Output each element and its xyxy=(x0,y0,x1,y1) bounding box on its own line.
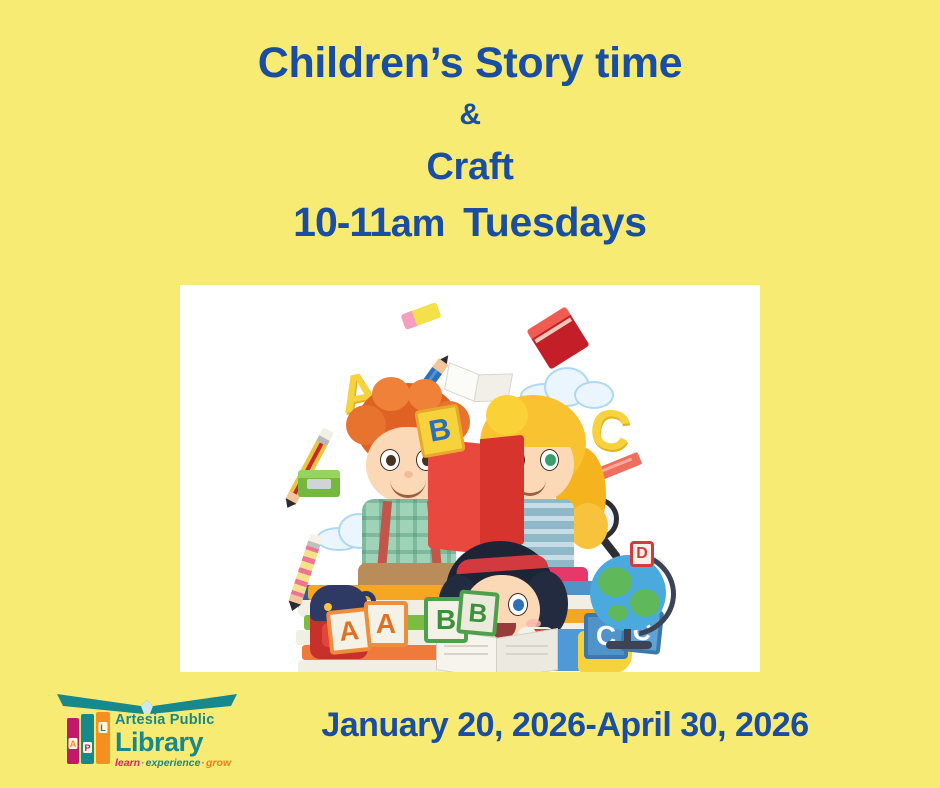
red-book-icon xyxy=(526,306,589,369)
logo-tagline: learn·experience·grow xyxy=(115,757,231,769)
tagline-word-learn: learn xyxy=(115,757,140,769)
tagline-word-experience: experience xyxy=(146,757,201,769)
event-day: Tuesdays xyxy=(463,199,647,245)
tagline-word-grow: grow xyxy=(206,757,231,769)
time-period: am xyxy=(391,203,445,245)
illustration-panel: A xyxy=(180,285,760,672)
headline-block: Children’s Story time & Craft 10-11amTue… xyxy=(0,36,940,252)
globe-icon: D xyxy=(584,541,680,651)
svg-text:L: L xyxy=(100,723,106,733)
pencil-red-icon xyxy=(282,427,334,510)
event-time-line: 10-11amTuesdays xyxy=(0,194,940,252)
event-title: Children’s Story time xyxy=(0,36,940,90)
ampersand-line: & xyxy=(0,90,940,140)
svg-text:A: A xyxy=(70,739,77,749)
logo-name-line2: Library xyxy=(115,729,231,755)
poster-canvas: Children’s Story time & Craft 10-11amTue… xyxy=(0,0,940,788)
logo-wordmark: Artesia Public Library learn·experience·… xyxy=(115,712,231,769)
svg-text:P: P xyxy=(84,743,90,753)
illustration-stage: A xyxy=(180,285,760,672)
block-letter-b-held: B xyxy=(414,404,466,459)
logo-name-line1: Artesia Public xyxy=(115,712,231,728)
time-range: 10-11 xyxy=(293,199,391,245)
date-range-text: January 20, 2026-April 30, 2026 xyxy=(255,706,875,745)
eraser-icon xyxy=(400,302,441,330)
event-subtitle: Craft xyxy=(0,140,940,194)
logo-book-spines: A P L xyxy=(67,712,113,764)
block-letter-b-2: B xyxy=(456,589,500,636)
block-letter-a-2: A xyxy=(326,607,372,655)
library-logo: A P L Artesia Public Library learn·exper… xyxy=(55,690,240,776)
